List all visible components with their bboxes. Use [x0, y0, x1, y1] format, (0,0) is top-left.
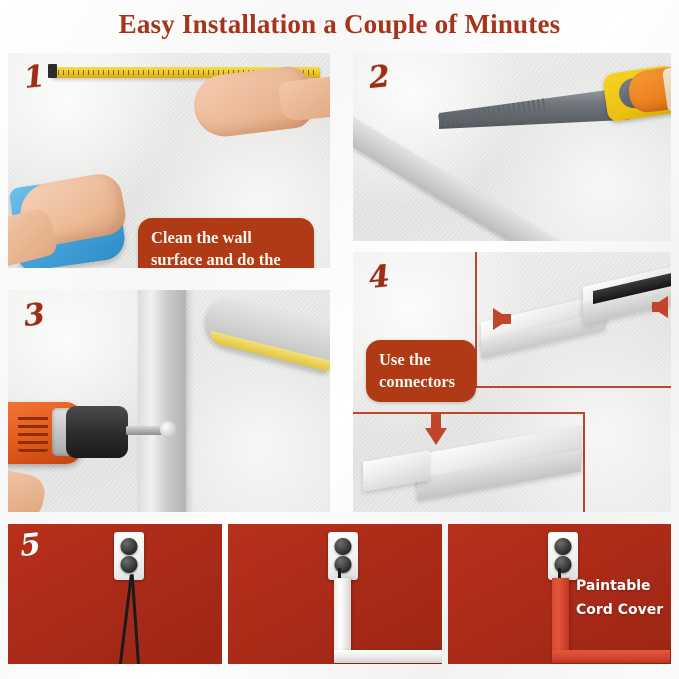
step-5-before-scene: 5 [8, 524, 222, 664]
step-number-3: 3 [22, 297, 46, 334]
page-title: Easy Installation a Couple of Minutes [0, 4, 679, 44]
arrow-down-icon [425, 428, 447, 445]
wall-outlet [548, 532, 578, 580]
paintable-label-line-1: Paintable [576, 576, 651, 598]
baseboard-cord-cover-white [334, 650, 442, 663]
step-2-panel: 2 Cut the required length [353, 53, 671, 241]
plug-icon [335, 538, 352, 555]
step-1-caption: Clean the wall surface and do the measur… [138, 218, 314, 268]
paintable-label-line-2: Cord Cover [576, 600, 663, 622]
step-5-painted-scene: Paintable Cord Cover [448, 524, 671, 664]
step-number-4: 4 [367, 259, 391, 296]
connector-detail-upper [475, 252, 671, 386]
drill-vents [18, 414, 48, 452]
step-number-1: 1 [22, 59, 46, 96]
step-1-panel: 1 Clean the wall surface and do the meas… [8, 53, 330, 268]
screw-head [160, 421, 176, 438]
step-4-caption: Use the connectors [366, 340, 476, 402]
step-5-panel: 5 Paintable Cord Cover [8, 524, 671, 664]
hanging-cord [131, 574, 141, 664]
connector-detail-lower [353, 412, 585, 512]
divider-line-horizontal [475, 386, 671, 388]
infographic-page: Easy Installation a Couple of Minutes 1 … [0, 0, 679, 679]
wall-outlet [328, 532, 358, 580]
vertical-cord-cover-painted [552, 578, 569, 652]
baseboard-cord-cover-painted [552, 650, 670, 663]
tape-hook-icon [48, 64, 57, 78]
wall-outlet [114, 532, 144, 580]
arrow-right-icon [493, 308, 510, 330]
step-number-5: 5 [18, 527, 42, 564]
arrow-left-icon [651, 296, 668, 318]
forearm [278, 76, 330, 122]
step-4-panel: 4 Use the connectors [353, 252, 671, 512]
vertical-cord-cover [138, 290, 186, 512]
plug-icon [555, 538, 572, 555]
step-number-2: 2 [367, 59, 391, 96]
plug-icon [121, 556, 138, 573]
plug-icon [121, 538, 138, 555]
step-3-panel: 3 Use screw on textured wall Use pre-app… [8, 290, 330, 512]
step-5-installed-scene [228, 524, 442, 664]
drill-chuck [66, 406, 128, 458]
vertical-cord-cover-white [334, 578, 351, 652]
